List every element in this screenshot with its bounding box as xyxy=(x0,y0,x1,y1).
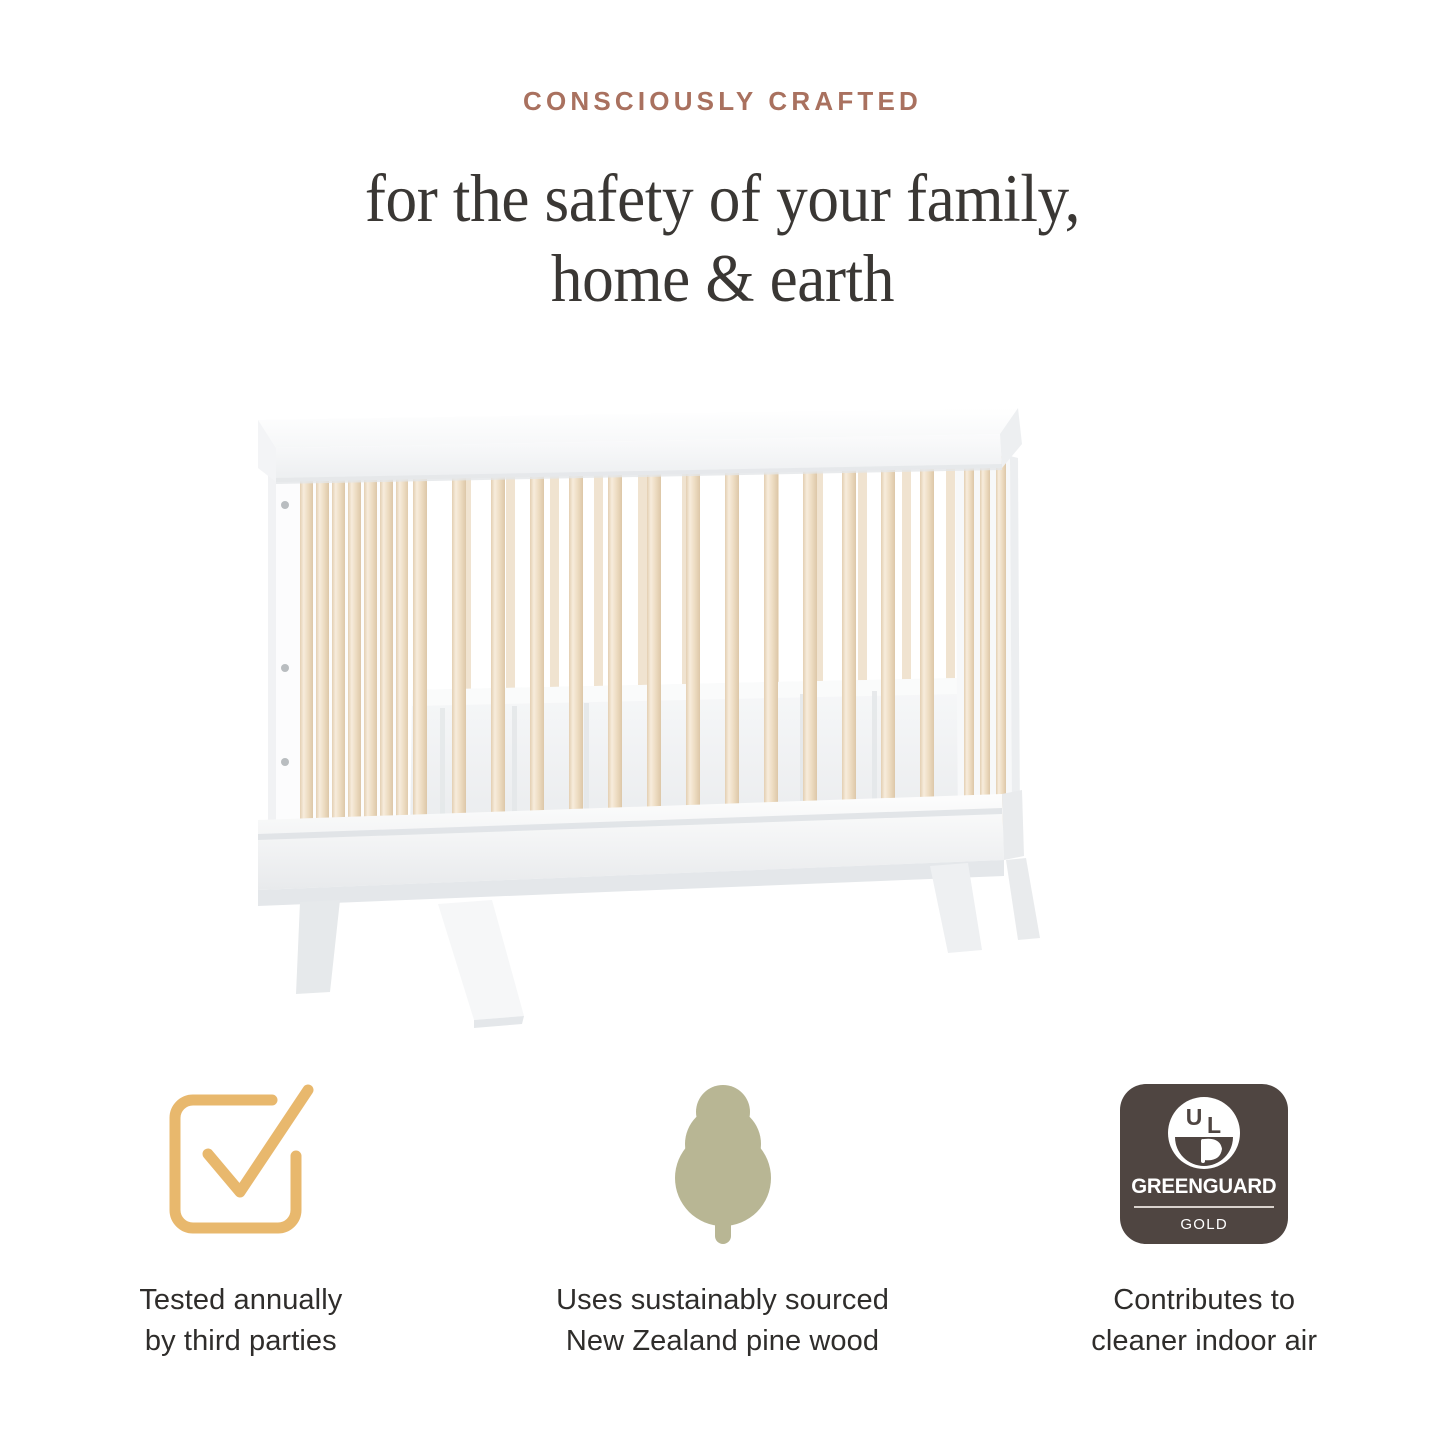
greenguard-gold-badge-icon: U L GREENGUARD GOLD xyxy=(1120,1084,1288,1244)
feature-caption-wood: Uses sustainably sourced New Zealand pin… xyxy=(556,1280,889,1362)
checkbox-check-icon xyxy=(156,1082,326,1247)
greenguard-wordmark: GREENGUARD xyxy=(1132,1175,1277,1199)
page-title: for the safety of your family, home & ea… xyxy=(51,158,1395,318)
feature-caption-tested: Tested annually by third parties xyxy=(139,1280,342,1362)
greenguard-divider xyxy=(1134,1206,1274,1208)
feature-sustainable-wood: Uses sustainably sourced New Zealand pin… xyxy=(482,1078,964,1362)
headline-line-1: for the safety of your family, xyxy=(51,158,1395,238)
product-photo xyxy=(0,390,1445,1050)
crib-right-slats xyxy=(964,456,1006,828)
svg-text:U: U xyxy=(1186,1104,1203,1130)
svg-text:L: L xyxy=(1207,1112,1221,1138)
feature-indoor-air: U L GREENGUARD GOLD Contributes to clean… xyxy=(963,1078,1445,1362)
feature-tested-annually: Tested annually by third parties xyxy=(0,1078,482,1362)
ul-mark-icon: U L xyxy=(1166,1095,1242,1171)
greenguard-badge-wrap: U L GREENGUARD GOLD xyxy=(1120,1078,1288,1250)
headline-line-2: home & earth xyxy=(51,238,1395,318)
feature-row: Tested annually by third parties Uses su… xyxy=(0,1078,1445,1362)
feature-caption-air: Contributes to cleaner indoor air xyxy=(1091,1280,1317,1362)
crib-left-end-panel xyxy=(268,460,409,845)
marketing-image: CONSCIOUSLY CRAFTED for the safety of yo… xyxy=(0,0,1445,1445)
eyebrow-text: CONSCIOUSLY CRAFTED xyxy=(0,88,1445,114)
crib-illustration xyxy=(0,390,1445,1050)
tree-icon-wrap xyxy=(653,1078,793,1250)
header-block: CONSCIOUSLY CRAFTED for the safety of yo… xyxy=(0,88,1445,318)
greenguard-tier-label: GOLD xyxy=(1180,1216,1228,1233)
tree-icon xyxy=(653,1082,793,1247)
checkbox-check-icon-wrap xyxy=(156,1078,326,1250)
